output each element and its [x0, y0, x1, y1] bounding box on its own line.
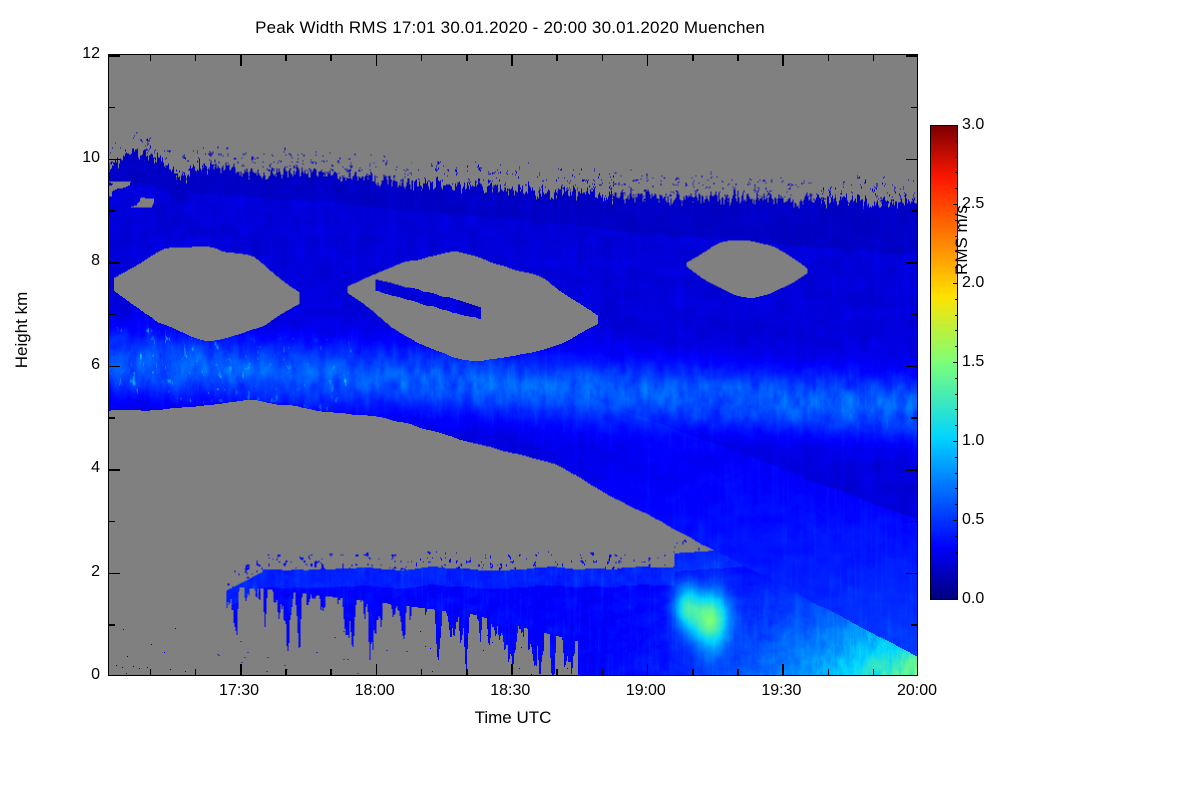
colorbar-tick-label: 0.5 [962, 511, 984, 529]
y-axis-tick-label: 8 [91, 252, 100, 270]
x-axis-tick-label: 17:30 [219, 682, 259, 700]
y-axis-tick-label: 4 [91, 459, 100, 477]
colorbar-tick-label: 3.0 [962, 116, 984, 134]
colorbar-title: RMS m/s [952, 170, 972, 310]
figure-root: Peak Width RMS 17:01 30.01.2020 - 20:00 … [0, 0, 1200, 800]
x-axis-tick-label: 19:00 [626, 682, 666, 700]
y-axis-tick-label: 12 [82, 45, 100, 63]
x-axis-tick-labels: 17:3018:0018:3019:0019:3020:00 [108, 682, 918, 706]
x-axis-tick-label: 18:30 [490, 682, 530, 700]
y-axis-tick-label: 2 [91, 563, 100, 581]
y-axis-tick-label: 0 [91, 666, 100, 684]
y-axis-tick-labels: 024681012 [56, 54, 100, 676]
colorbar-tick-label: 1.5 [962, 353, 984, 371]
heatmap-canvas [109, 55, 917, 675]
heatmap-plot-area[interactable] [108, 54, 918, 676]
page-title: Peak Width RMS 17:01 30.01.2020 - 20:00 … [0, 18, 1020, 38]
colorbar-tick-label: 1.0 [962, 432, 984, 450]
y-axis-tick-label: 10 [82, 149, 100, 167]
x-axis-tick-label: 19:30 [761, 682, 801, 700]
colorbar-tick-label: 0.0 [962, 590, 984, 608]
y-axis-tick-label: 6 [91, 356, 100, 374]
x-axis-tick-label: 18:00 [355, 682, 395, 700]
x-axis-tick-label: 20:00 [897, 682, 937, 700]
y-axis-title: Height km [12, 270, 32, 390]
x-axis-title: Time UTC [108, 708, 918, 728]
